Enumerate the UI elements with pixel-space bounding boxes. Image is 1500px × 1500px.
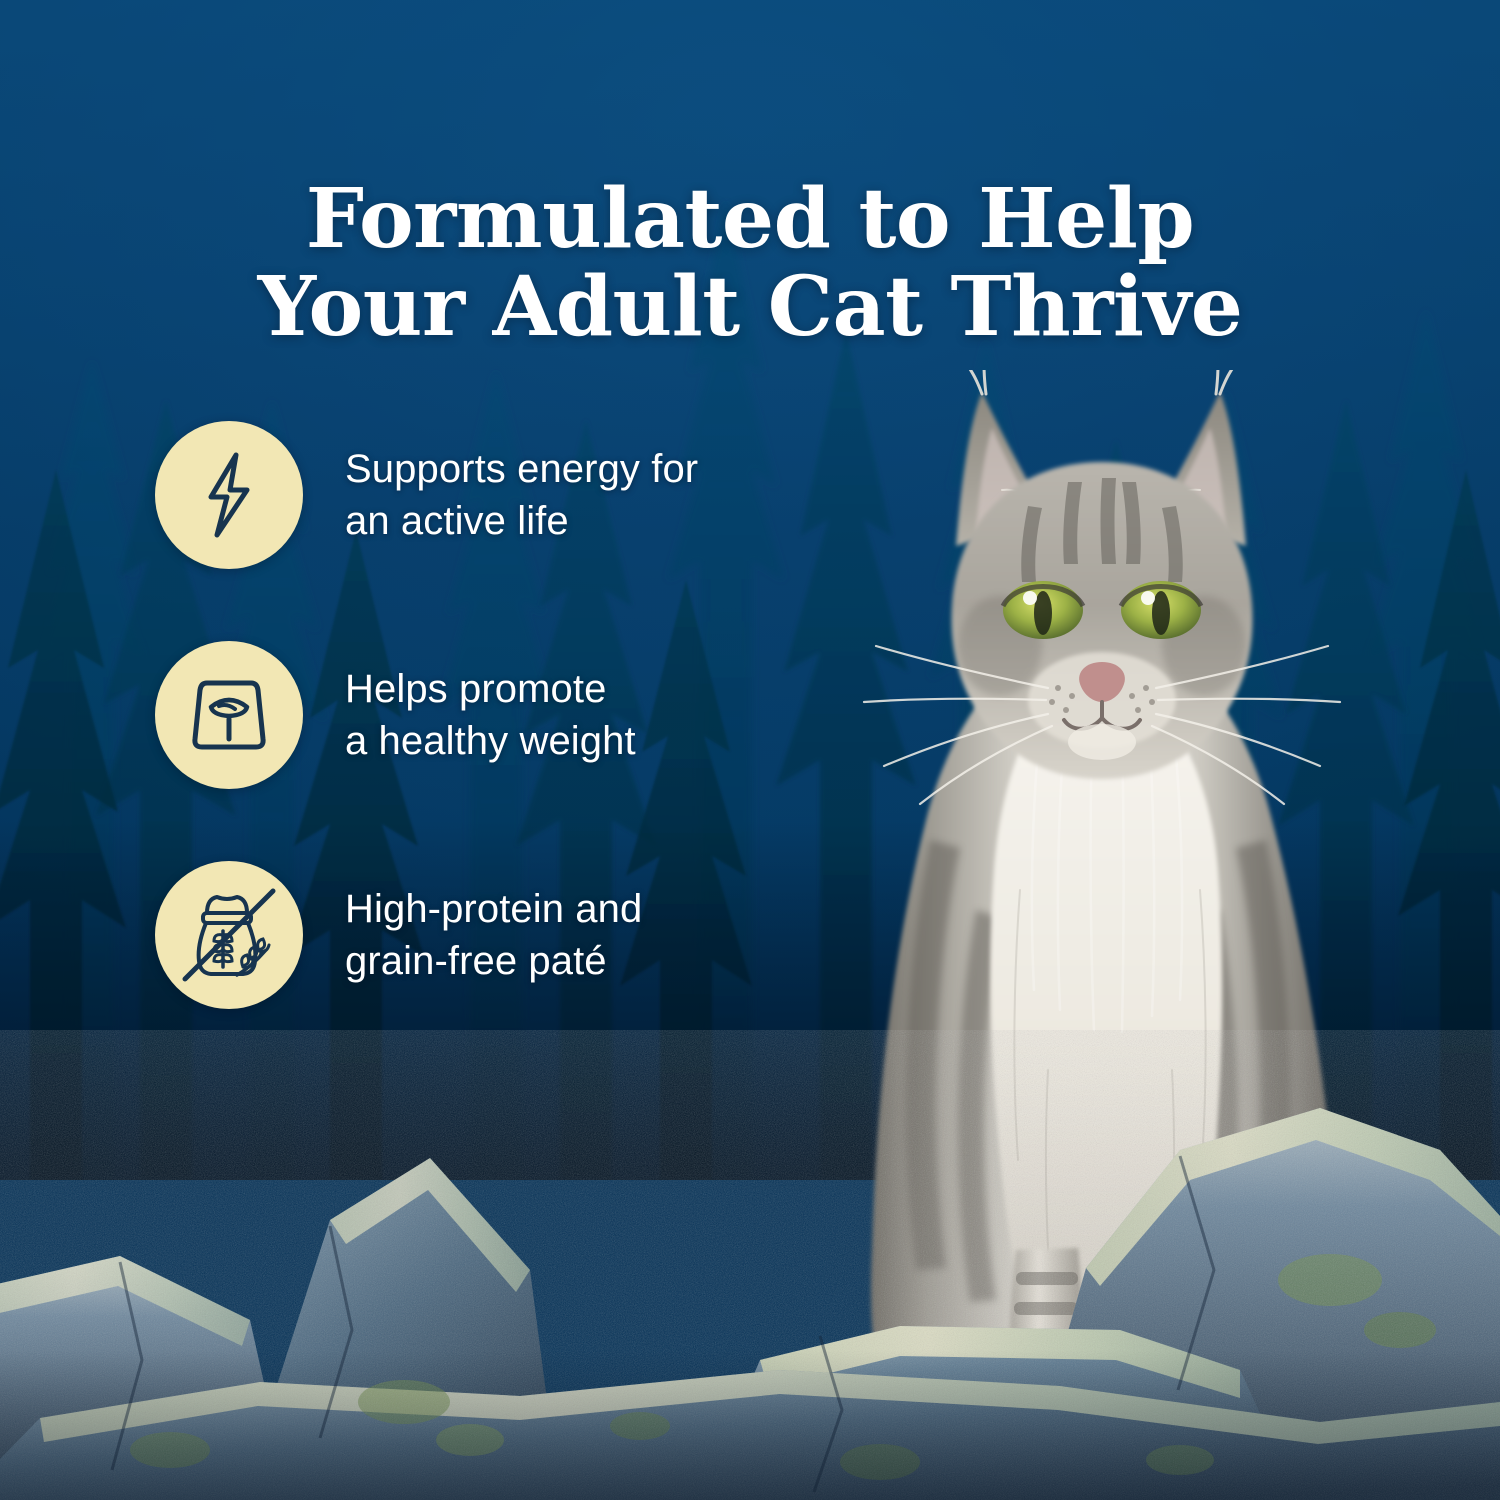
cat-eye-left [1003,581,1083,639]
headline-line-2: Your Adult Cat Thrive [0,263,1500,352]
lightning-bolt-icon [155,421,303,569]
no-grain-glyph [173,879,285,991]
lightning-bolt-glyph [183,449,275,541]
headline-line-1: Formulated to Help [0,175,1500,264]
benefit-text-weight: Helps promote a healthy weight [345,663,636,767]
benefit-grain-line2: grain-free paté [345,935,642,987]
no-grain-icon [155,861,303,1009]
benefit-energy-line1: Supports energy for [345,443,698,495]
benefits-list: Supports energy for an active life Helps… [155,420,775,1080]
product-benefits-banner: Formulated to Help Your Adult Cat Thrive… [0,0,1500,1500]
benefit-text-energy: Supports energy for an active life [345,443,698,547]
benefit-item-energy: Supports energy for an active life [155,420,775,570]
benefit-energy-line2: an active life [345,495,698,547]
benefit-weight-line2: a healthy weight [345,715,636,767]
benefit-item-weight: Helps promote a healthy weight [155,640,775,790]
benefit-item-grain-free: High-protein and grain-free paté [155,860,775,1010]
bathroom-scale-glyph [183,669,275,761]
benefit-text-grain-free: High-protein and grain-free paté [345,883,642,987]
benefit-weight-line1: Helps promote [345,663,636,715]
bathroom-scale-icon [155,641,303,789]
benefit-grain-line1: High-protein and [345,883,642,935]
page-title: Formulated to Help Your Adult Cat Thrive [0,175,1500,352]
rock-foreground [0,1030,1500,1500]
cat-eye-right [1121,581,1201,639]
